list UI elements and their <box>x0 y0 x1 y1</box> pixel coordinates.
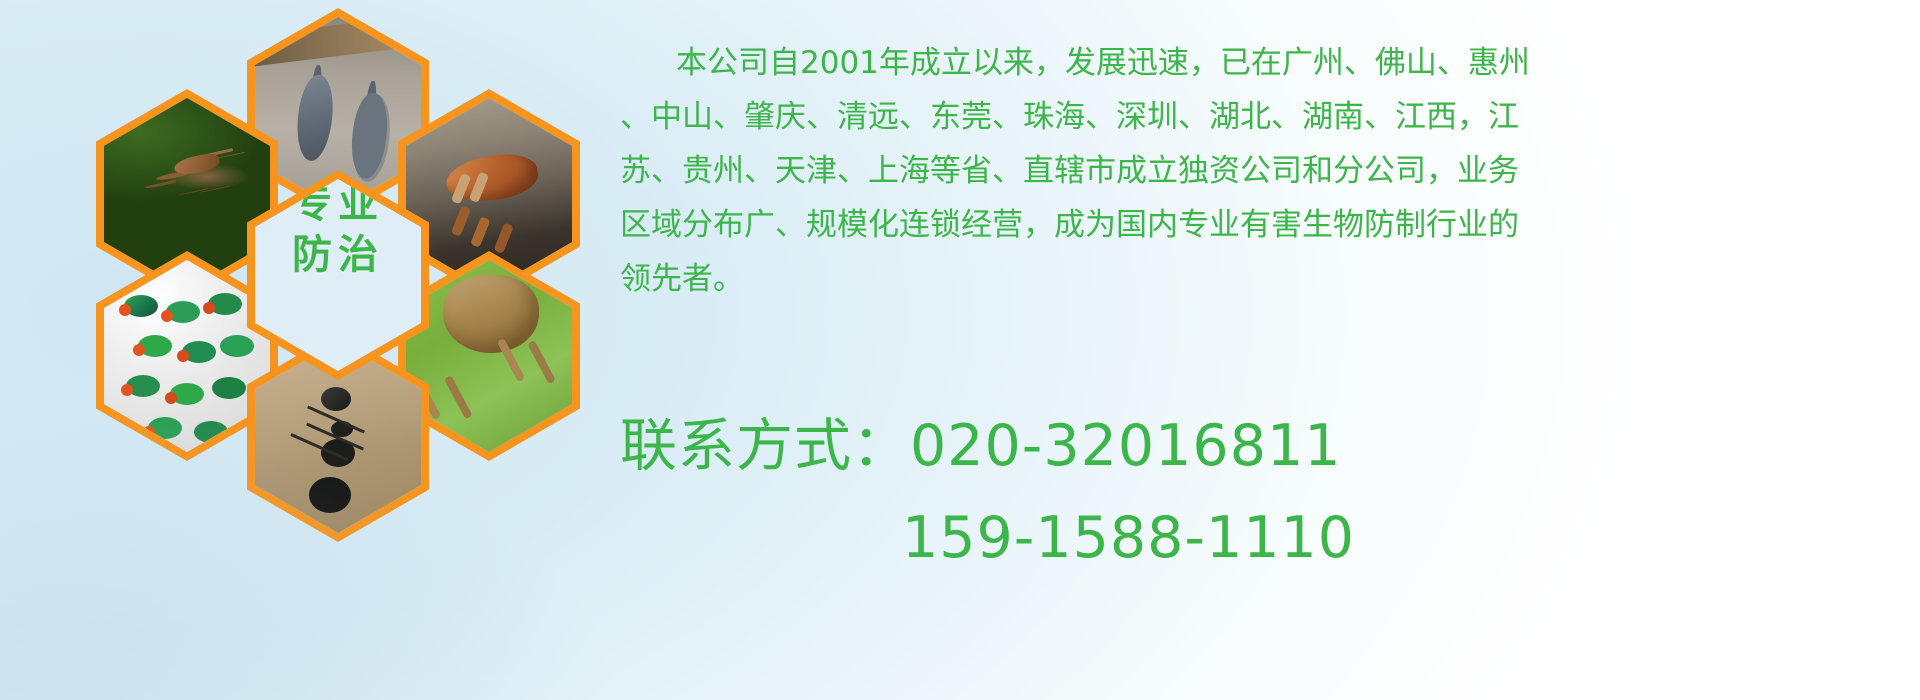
hex-inner <box>104 260 270 452</box>
about-line: 区域分布广、规模化连锁经营，成为国内专业有害生物防制行业的 <box>620 198 1860 252</box>
flies-photo <box>104 260 270 452</box>
hex-photo-cluster: 专业 防治 <box>88 0 588 574</box>
stink-bug-photo <box>406 260 572 452</box>
company-description: 本公司自2001年成立以来，发展迅速，已在广州、佛山、惠州 、中山、肇庆、清远、… <box>620 36 1860 306</box>
promo-banner: 专业 防治 本公司自2001年成立以来，发展迅速，已在广州、佛山、惠州 、中山、… <box>0 0 1920 700</box>
about-line: 、中山、肇庆、清远、东莞、珠海、深圳、湖北、湖南、江西，江 <box>620 90 1860 144</box>
about-line: 本公司自2001年成立以来，发展迅速，已在广州、佛山、惠州 <box>620 36 1860 90</box>
about-line: 苏、贵州、天津、上海等省、直辖市成立独资公司和分公司，业务 <box>620 144 1860 198</box>
contact-phone-secondary[interactable]: 159-1588-1110 <box>620 492 1880 584</box>
slogan-line-2: 防治 <box>255 230 421 281</box>
contact-phone-primary[interactable]: 联系方式：020-32016811 <box>620 400 1880 492</box>
hex-inner <box>406 260 572 452</box>
hex-inner: 专业 防治 <box>255 179 421 371</box>
contact-block: 联系方式：020-32016811 159-1588-1110 <box>620 400 1880 584</box>
about-line: 领先者。 <box>620 252 1860 306</box>
slogan-line-1: 专业 <box>255 179 421 230</box>
